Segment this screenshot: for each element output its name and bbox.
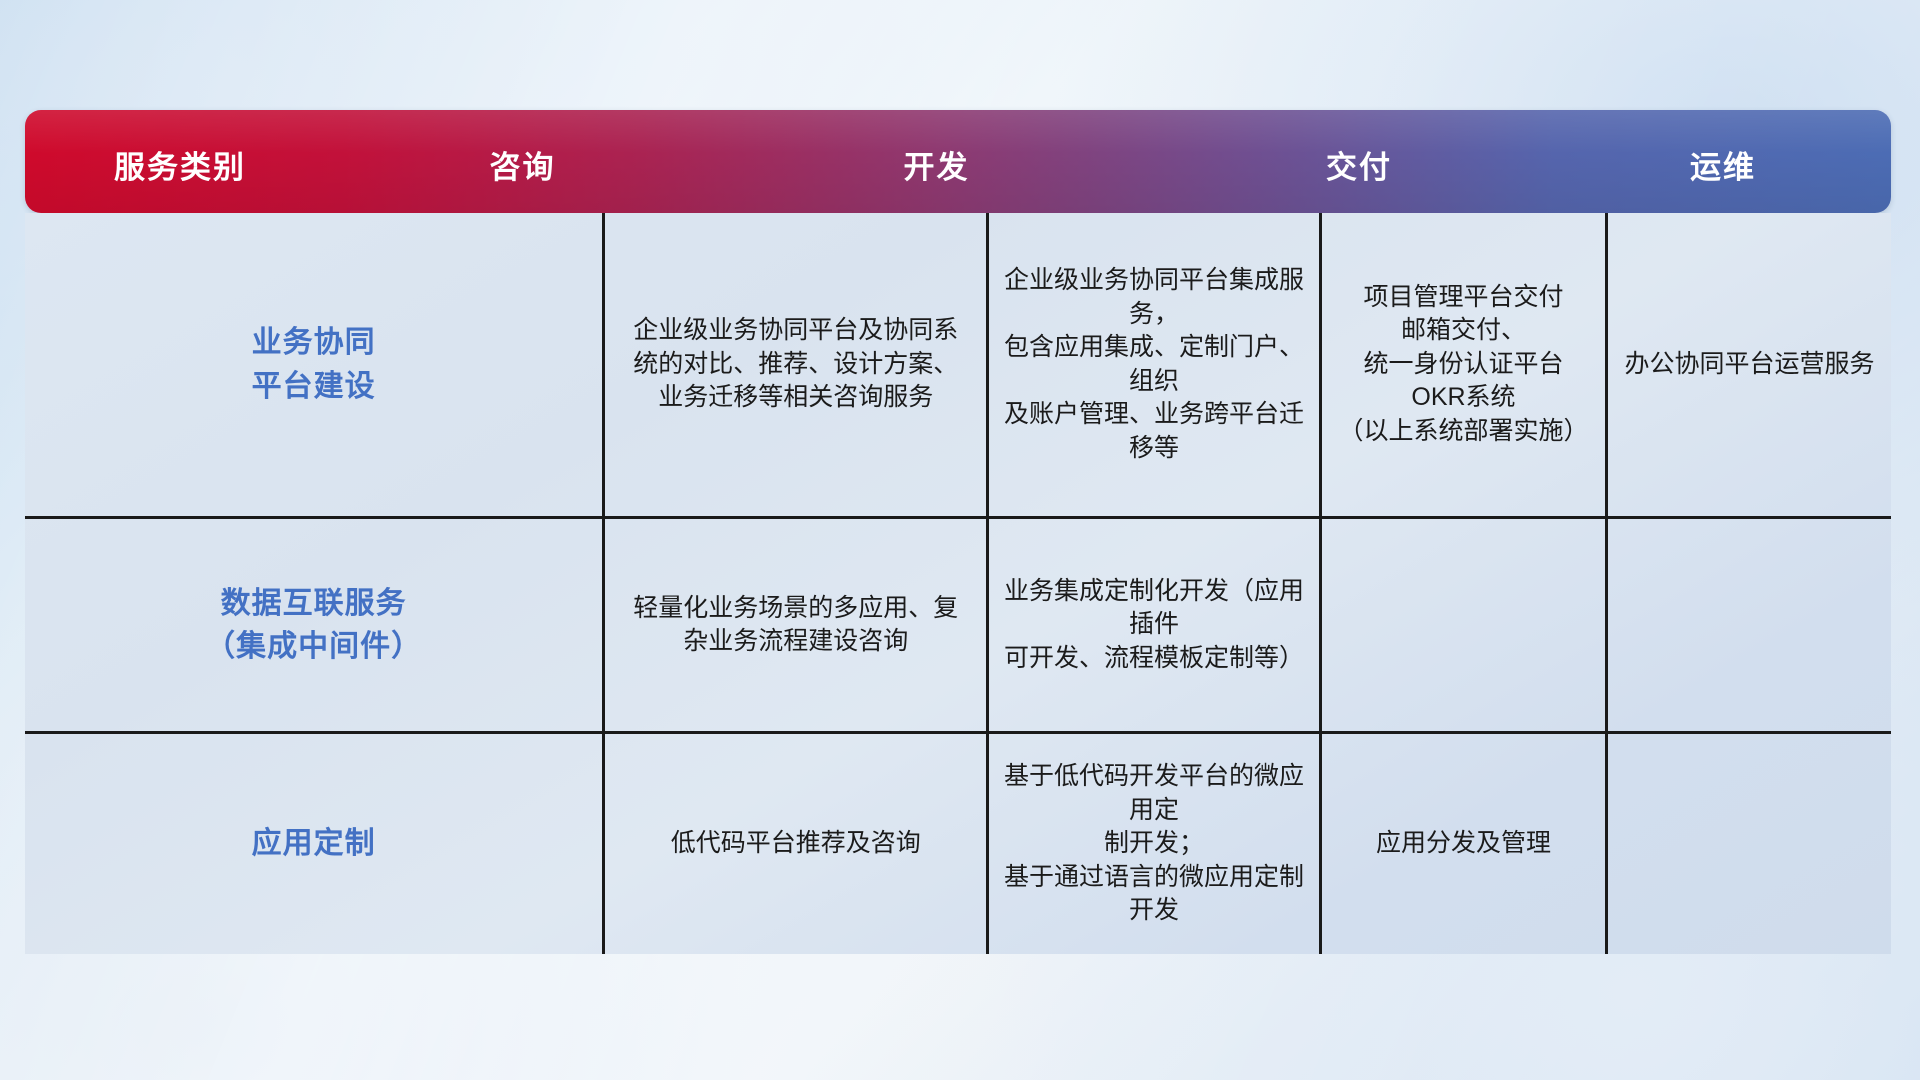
row-category-label: 数据互联服务 （集成中间件） bbox=[25, 519, 602, 731]
column-header-development: 开发 bbox=[710, 110, 1163, 213]
cell-development: 基于低代码开发平台的微应用定 制开发； 基于通过语言的微应用定制开发 bbox=[986, 734, 1319, 954]
cell-consulting: 轻量化业务场景的多应用、复 杂业务流程建设咨询 bbox=[602, 519, 986, 731]
cell-delivery: 项目管理平台交付 邮箱交付、 统一身份认证平台 OKR系统 （以上系统部署实施） bbox=[1319, 213, 1605, 516]
row-category-label: 业务协同 平台建设 bbox=[25, 213, 602, 516]
cell-operations bbox=[1605, 734, 1891, 954]
cell-delivery bbox=[1319, 519, 1605, 731]
cell-development: 业务集成定制化开发（应用插件 可开发、流程模板定制等） bbox=[986, 519, 1319, 731]
cell-operations: 办公协同平台运营服务 bbox=[1605, 213, 1891, 516]
cell-consulting: 低代码平台推荐及咨询 bbox=[602, 734, 986, 954]
column-header-delivery: 交付 bbox=[1163, 110, 1555, 213]
table-row: 应用定制 低代码平台推荐及咨询 基于低代码开发平台的微应用定 制开发； 基于通过… bbox=[25, 731, 1891, 954]
table-header-row: 服务类别 咨询 开发 交付 运维 bbox=[25, 110, 1891, 213]
table-body: 业务协同 平台建设 企业级业务协同平台及协同系 统的对比、推荐、设计方案、 业务… bbox=[25, 213, 1891, 954]
cell-consulting: 企业级业务协同平台及协同系 统的对比、推荐、设计方案、 业务迁移等相关咨询服务 bbox=[602, 213, 986, 516]
column-header-operations: 运维 bbox=[1555, 110, 1891, 213]
cell-development: 企业级业务协同平台集成服务， 包含应用集成、定制门户、组织 及账户管理、业务跨平… bbox=[986, 213, 1319, 516]
cell-operations bbox=[1605, 519, 1891, 731]
table-row: 业务协同 平台建设 企业级业务协同平台及协同系 统的对比、推荐、设计方案、 业务… bbox=[25, 213, 1891, 516]
service-matrix-table: 服务类别 咨询 开发 交付 运维 业务协同 平台建设 企业级业务协同平台及协同系… bbox=[25, 110, 1891, 954]
column-header-service-category: 服务类别 bbox=[25, 110, 335, 213]
column-header-consulting: 咨询 bbox=[335, 110, 710, 213]
cell-delivery: 应用分发及管理 bbox=[1319, 734, 1605, 954]
row-category-label: 应用定制 bbox=[25, 734, 602, 954]
table-row: 数据互联服务 （集成中间件） 轻量化业务场景的多应用、复 杂业务流程建设咨询 业… bbox=[25, 516, 1891, 731]
